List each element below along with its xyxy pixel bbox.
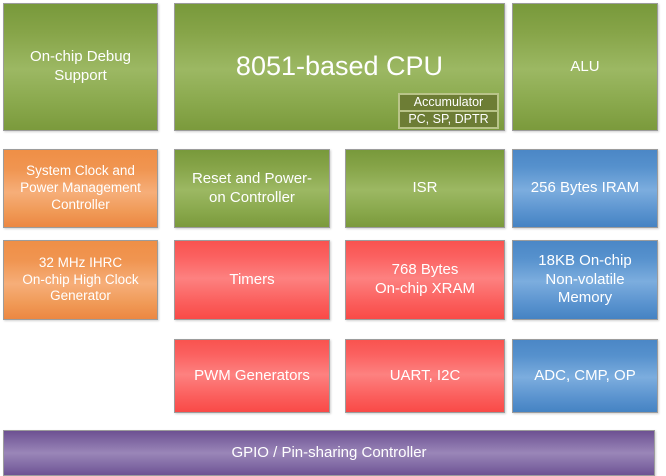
block-256-bytes-iram: 256 Bytes IRAM [512,149,658,228]
block-label: Reset and Power- on Controller [181,170,323,208]
block-isr: ISR [345,149,505,228]
mcu-block-diagram: On-chip Debug Support 8051-based CPU Acc… [0,0,666,473]
block-gpio-pin-sharing-controller: GPIO / Pin-sharing Controller [3,430,655,476]
block-label: 8051-based CPU [181,50,498,84]
block-label: GPIO / Pin-sharing Controller [10,444,648,463]
accumulator-label: Accumulator [400,95,497,112]
block-label: 256 Bytes IRAM [519,179,651,198]
block-label: 32 MHz IHRC On-chip High Clock Generator [10,255,151,306]
block-label: System Clock and Power Management Contro… [10,163,151,214]
block-label: ADC, CMP, OP [519,367,651,386]
block-on-chip-debug-support: On-chip Debug Support [3,3,158,131]
cpu-register-subbox: Accumulator PC, SP, DPTR [398,93,499,129]
block-timers: Timers [174,240,330,320]
block-18kb-non-volatile-memory: 18KB On-chip Non-volatile Memory [512,240,658,320]
block-alu: ALU [512,3,658,131]
pc-sp-dptr-label: PC, SP, DPTR [400,112,497,127]
block-uart-i2c: UART, I2C [345,339,505,413]
block-label: PWM Generators [181,367,323,386]
block-label: 768 Bytes On-chip XRAM [352,261,498,299]
block-label: UART, I2C [352,367,498,386]
block-label: 18KB On-chip Non-volatile Memory [519,252,651,308]
block-reset-and-power-on-controller: Reset and Power- on Controller [174,149,330,228]
block-system-clock-power-management-controller: System Clock and Power Management Contro… [3,149,158,228]
block-pwm-generators: PWM Generators [174,339,330,413]
block-32mhz-ihrc-generator: 32 MHz IHRC On-chip High Clock Generator [3,240,158,320]
block-label: On-chip Debug Support [10,48,151,86]
block-label: ALU [519,58,651,77]
block-label: ISR [352,179,498,198]
block-adc-cmp-op: ADC, CMP, OP [512,339,658,413]
block-768-bytes-on-chip-xram: 768 Bytes On-chip XRAM [345,240,505,320]
block-label: Timers [181,271,323,290]
